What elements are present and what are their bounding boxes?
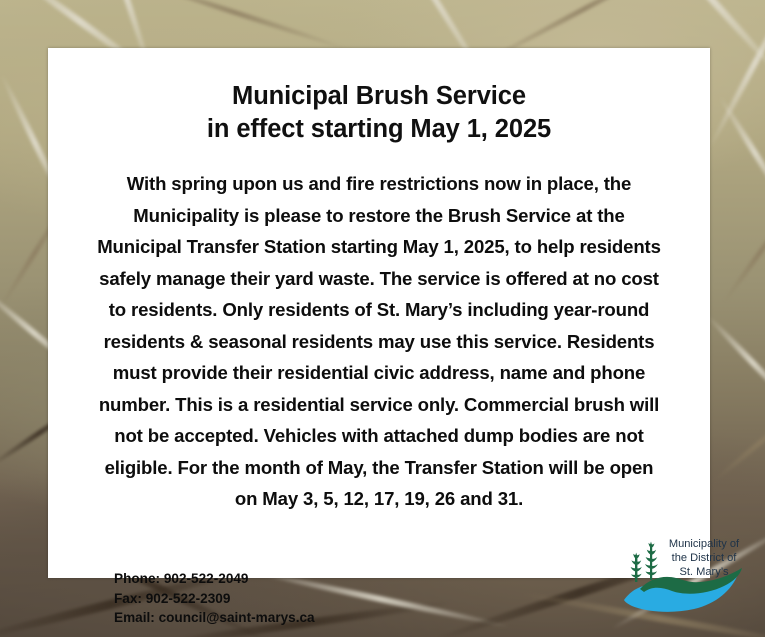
body-line: With spring upon us and fire restriction… [76,168,682,200]
contact-phone: Phone: 902-522-2049 [114,569,315,589]
notice-card: Municipal Brush Service in effect starti… [48,48,710,578]
title-line-1: Municipal Brush Service [70,80,688,113]
notice-body-text: With spring upon us and fire restriction… [70,168,688,515]
body-line: not be accepted. Vehicles with attached … [76,420,682,452]
title-line-2: in effect starting May 1, 2025 [70,113,688,146]
body-line: safely manage their yard waste. The serv… [76,263,682,295]
body-line: must provide their residential civic add… [76,357,682,389]
body-line: number. This is a residential service on… [76,389,682,421]
municipality-logo: Municipality of the District of St. Mary… [620,530,752,614]
logo-text-line-3: St. Mary’s [679,566,729,578]
body-line: residents & seasonal residents may use t… [76,326,682,358]
body-line: Municipality is please to restore the Br… [76,200,682,232]
logo-text-line-1: Municipality of [669,538,740,550]
body-line: to residents. Only residents of St. Mary… [76,294,682,326]
pine-trees-icon [631,542,658,583]
contact-fax: Fax: 902-522-2309 [114,589,315,609]
contact-email: Email: council@saint-marys.ca [114,608,315,628]
body-line: eligible. For the month of May, the Tran… [76,452,682,484]
body-line: on May 3, 5, 12, 17, 19, 26 and 31. [76,483,682,515]
contact-block: Phone: 902-522-2049 Fax: 902-522-2309 Em… [114,569,315,628]
body-line: Municipal Transfer Station starting May … [76,231,682,263]
page-title: Municipal Brush Service in effect starti… [70,80,688,146]
logo-text-line-2: the District of [672,552,738,564]
